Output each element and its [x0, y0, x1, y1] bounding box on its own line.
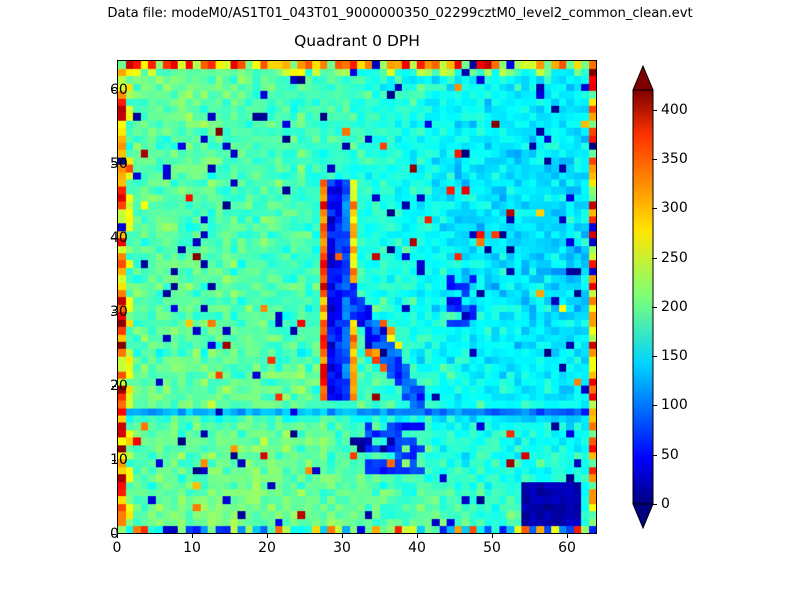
- colorbar-tick-label: 200: [661, 299, 688, 315]
- colorbar-tick-label: 100: [661, 397, 688, 413]
- colorbar-tick-label: 150: [661, 348, 688, 364]
- x-tick-label: 30: [333, 540, 351, 556]
- y-tick-label: 30: [110, 304, 128, 320]
- figure-canvas: Data file: modeM0/AS1T01_043T01_90000003…: [0, 0, 800, 600]
- x-tick-mark: [417, 534, 418, 538]
- data-file-suptitle: Data file: modeM0/AS1T01_043T01_90000003…: [0, 6, 800, 21]
- colorbar-tick-label: 50: [661, 447, 679, 463]
- colorbar-tick-mark: [652, 208, 657, 209]
- colorbar-gradient: [625, 60, 720, 534]
- y-tick-label: 10: [110, 452, 128, 468]
- y-tick-label: 0: [110, 526, 119, 542]
- y-tick-label: 50: [110, 156, 128, 172]
- colorbar-tick-label: 400: [661, 102, 688, 118]
- x-tick-mark: [342, 534, 343, 538]
- colorbar-tick-label: 250: [661, 250, 688, 266]
- x-tick-label: 10: [183, 540, 201, 556]
- x-tick-label: 60: [558, 540, 576, 556]
- y-tick-label: 60: [110, 82, 128, 98]
- colorbar-tick-label: 0: [661, 496, 670, 512]
- x-tick-mark: [567, 534, 568, 538]
- y-tick-label: 20: [110, 378, 128, 394]
- y-tick-label: 40: [110, 230, 128, 246]
- colorbar-tick-mark: [652, 405, 657, 406]
- heatmap-axes[interactable]: [117, 60, 597, 534]
- x-tick-mark: [492, 534, 493, 538]
- x-tick-mark: [192, 534, 193, 538]
- detector-heatmap-image[interactable]: [118, 61, 596, 533]
- axes-title: Quadrant 0 DPH: [117, 32, 597, 50]
- x-tick-label: 50: [483, 540, 501, 556]
- x-tick-label: 0: [113, 540, 122, 556]
- colorbar-tick-label: 350: [661, 151, 688, 167]
- colorbar-tick-mark: [652, 258, 657, 259]
- colorbar-tick-mark: [652, 356, 657, 357]
- x-tick-label: 40: [408, 540, 426, 556]
- x-tick-label: 20: [258, 540, 276, 556]
- colorbar-tick-label: 300: [661, 200, 688, 216]
- colorbar-tick-mark: [652, 307, 657, 308]
- colorbar-tick-mark: [652, 159, 657, 160]
- x-tick-mark: [267, 534, 268, 538]
- colorbar-tick-mark: [652, 504, 657, 505]
- colorbar-tick-mark: [652, 110, 657, 111]
- colorbar-tick-mark: [652, 455, 657, 456]
- colorbar[interactable]: 050100150200250300350400: [625, 60, 720, 534]
